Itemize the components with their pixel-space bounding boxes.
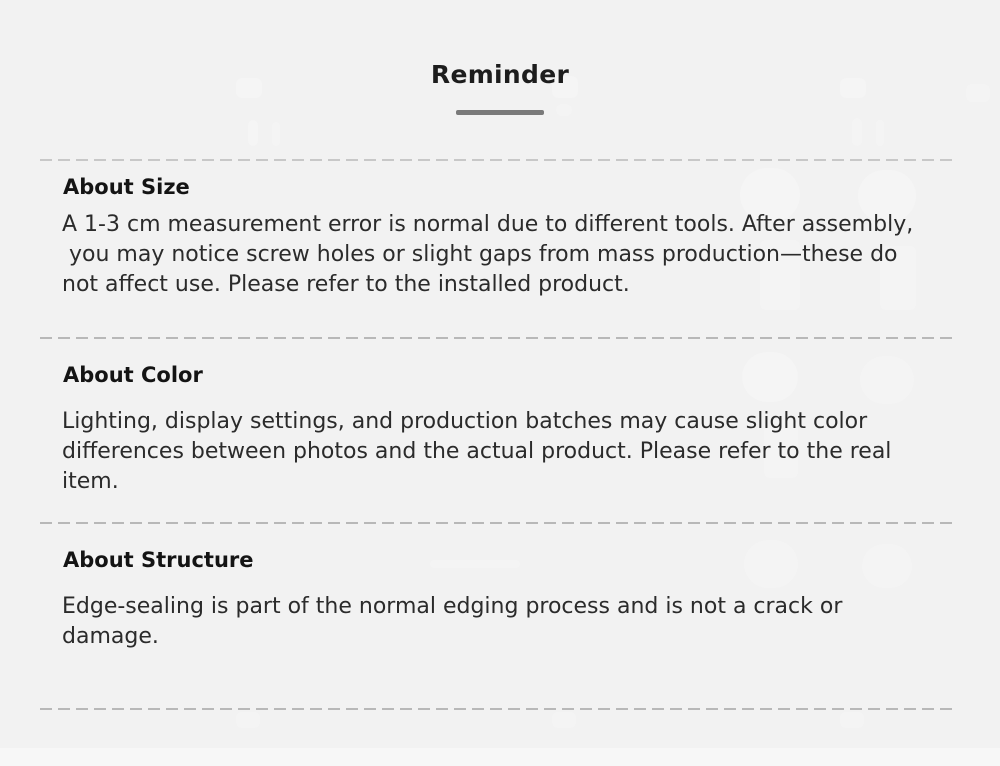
section-body-about-color: Lighting, display settings, and producti… (62, 407, 948, 497)
section-divider (40, 159, 958, 161)
title-underline-rule (456, 110, 544, 115)
page-header: Reminder (0, 0, 1000, 115)
bottom-strip (0, 748, 1000, 766)
reminder-page: Reminder About Size A 1-3 cm measurement… (0, 0, 1000, 766)
section-body-about-size: A 1-3 cm measurement error is normal due… (62, 210, 948, 300)
section-divider (40, 337, 958, 339)
section-about-color: About Color Lighting, display settings, … (0, 361, 1000, 497)
section-body-about-structure: Edge-sealing is part of the normal edgin… (62, 592, 948, 652)
section-about-structure: About Structure Edge-sealing is part of … (0, 546, 1000, 652)
page-title: Reminder (0, 62, 1000, 87)
section-divider (40, 708, 958, 710)
section-about-size: About Size A 1-3 cm measurement error is… (0, 173, 1000, 300)
section-heading-about-size: About Size (63, 173, 1000, 201)
section-divider (40, 522, 958, 524)
section-heading-about-color: About Color (63, 361, 1000, 389)
section-heading-about-structure: About Structure (63, 546, 1000, 574)
